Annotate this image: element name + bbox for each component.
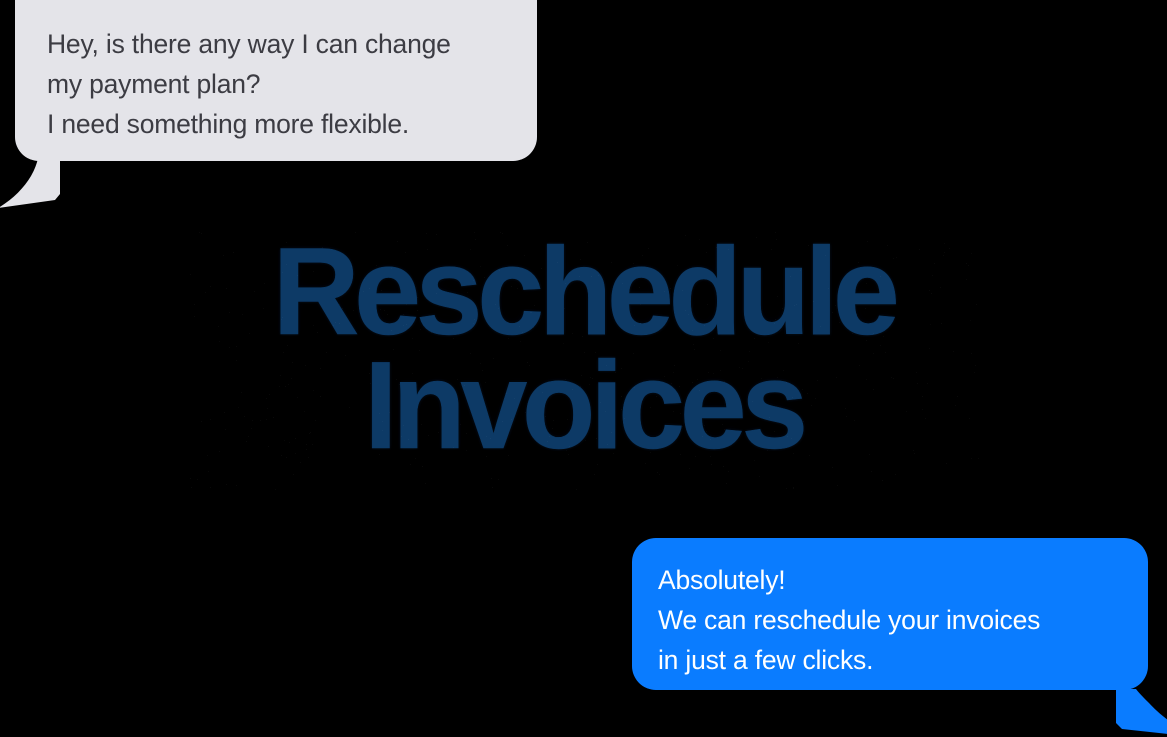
- message-text-outgoing: Absolutely! We can reschedule your invoi…: [658, 560, 1120, 680]
- headline-line-1: Reschedule: [18, 236, 1150, 348]
- bubble-tail-outgoing-icon: [1116, 689, 1167, 737]
- message-text-incoming: Hey, is there any way I can change my pa…: [47, 24, 507, 144]
- headline: Reschedule Invoices: [0, 236, 1167, 460]
- message-bubble-incoming[interactable]: Hey, is there any way I can change my pa…: [15, 0, 537, 161]
- promo-canvas: Hey, is there any way I can change my pa…: [0, 0, 1167, 737]
- headline-grain-overlay: [190, 230, 980, 490]
- headline-line-2: Invoices: [18, 350, 1150, 462]
- bubble-tail-incoming-icon: [0, 158, 60, 208]
- message-bubble-outgoing[interactable]: Absolutely! We can reschedule your invoi…: [632, 538, 1148, 690]
